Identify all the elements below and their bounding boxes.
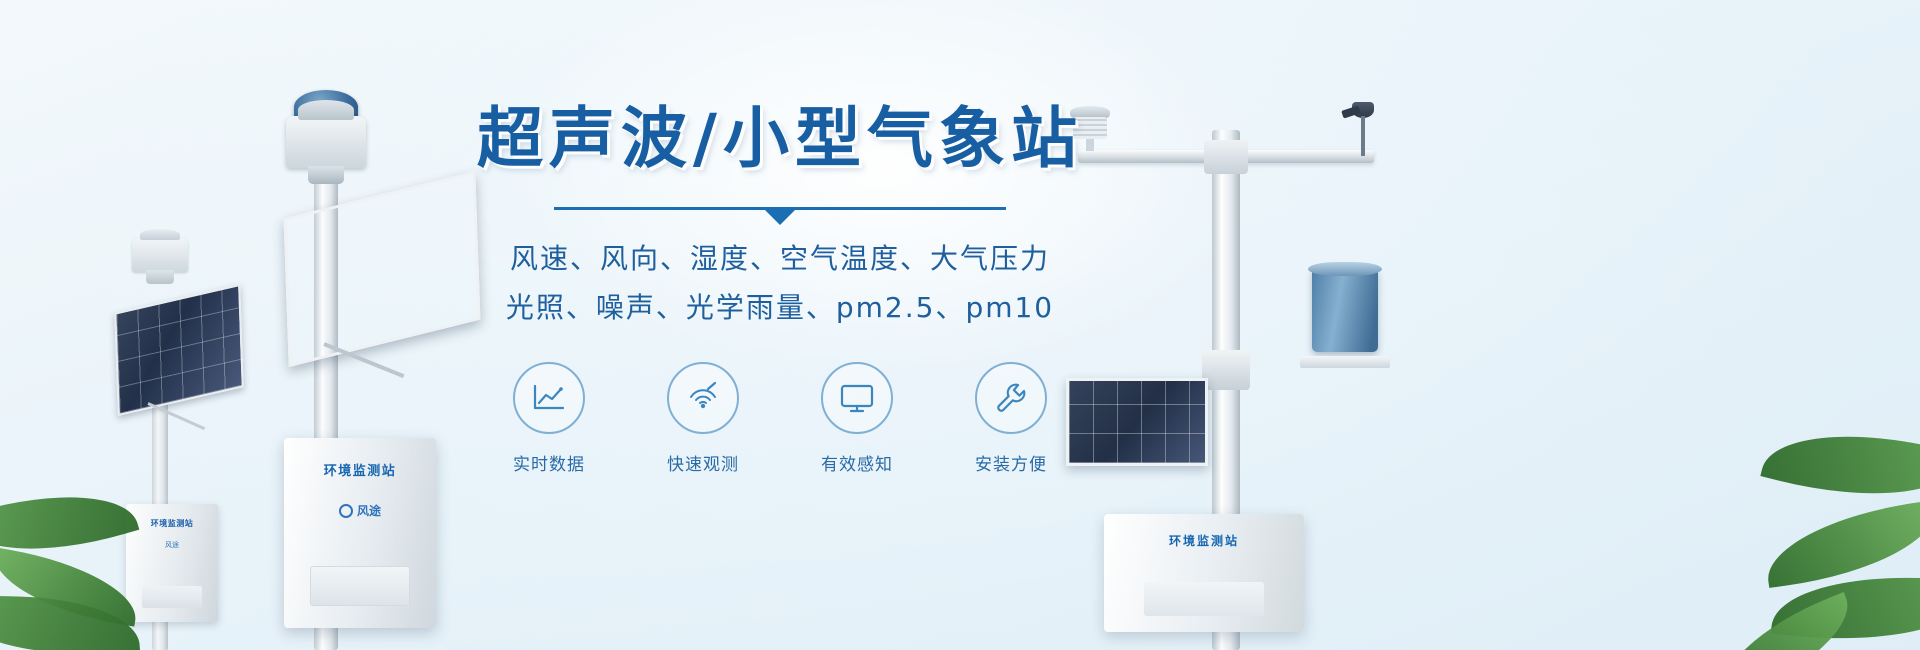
cabinet-vent	[1144, 582, 1264, 616]
feature-item-realtime-data[interactable]: 实时数据	[499, 362, 599, 475]
feature-label: 快速观测	[653, 450, 753, 475]
brand-logo-icon	[339, 504, 353, 518]
feature-item-effective-sensing[interactable]: 有效感知	[807, 362, 907, 475]
page-title: 超声波/小型气象站	[450, 104, 1110, 174]
sensor-head-icon	[132, 238, 188, 272]
divider-triangle-icon	[765, 210, 795, 225]
line-chart-icon	[513, 362, 585, 434]
subtitle-block: 风速、风向、湿度、空气温度、大气压力 光照、噪声、光学雨量、pm2.5、pm10	[450, 234, 1110, 332]
monitor-icon	[821, 362, 893, 434]
banner-content: 超声波/小型气象站 风速、风向、湿度、空气温度、大气压力 光照、噪声、光学雨量、…	[450, 104, 1110, 475]
cabinet-label: 环境监测站	[284, 460, 436, 479]
control-cabinet: 环境监测站 风途	[126, 504, 218, 622]
vane-rod	[1361, 116, 1365, 156]
title-divider	[554, 204, 1006, 216]
cabinet-brand: 风途	[284, 502, 436, 519]
wind-vane-icon	[1346, 102, 1380, 156]
brand-text: 风途	[357, 504, 381, 518]
subtitle-line-2: 光照、噪声、光学雨量、pm2.5、pm10	[450, 283, 1110, 332]
gauge-rim	[1308, 262, 1382, 276]
wrench-icon	[975, 362, 1047, 434]
subtitle-line-1: 风速、风向、湿度、空气温度、大气压力	[450, 234, 1110, 283]
feature-item-easy-install[interactable]: 安装方便	[961, 362, 1061, 475]
feature-item-fast-observation[interactable]: 快速观测	[653, 362, 753, 475]
feature-label: 安装方便	[961, 450, 1061, 475]
feature-list: 实时数据 快速观测	[450, 362, 1110, 475]
cabinet-brand: 风途	[126, 540, 218, 550]
gauge-barrel	[1312, 268, 1378, 352]
control-cabinet: 环境监测站 风途	[284, 438, 436, 628]
solar-panel	[114, 284, 244, 416]
mast-collar	[1204, 140, 1248, 174]
rain-gauge-icon	[1306, 262, 1384, 368]
cabinet-vent	[142, 586, 202, 608]
cabinet-vent	[310, 566, 410, 606]
feature-label: 实时数据	[499, 450, 599, 475]
gauge-shelf	[1300, 356, 1390, 368]
cabinet-label: 环境监测站	[1104, 532, 1304, 549]
weather-station-small: 环境监测站 风途	[108, 230, 288, 650]
radar-signal-icon	[667, 362, 739, 434]
sensor-head-icon	[286, 116, 366, 168]
feature-label: 有效感知	[807, 450, 907, 475]
cabinet-label: 环境监测站	[126, 518, 218, 529]
product-banner: 环境监测站 风途 环境监测站 风途	[0, 0, 1920, 650]
control-cabinet: 环境监测站	[1104, 514, 1304, 632]
mast-collar	[1202, 350, 1250, 390]
